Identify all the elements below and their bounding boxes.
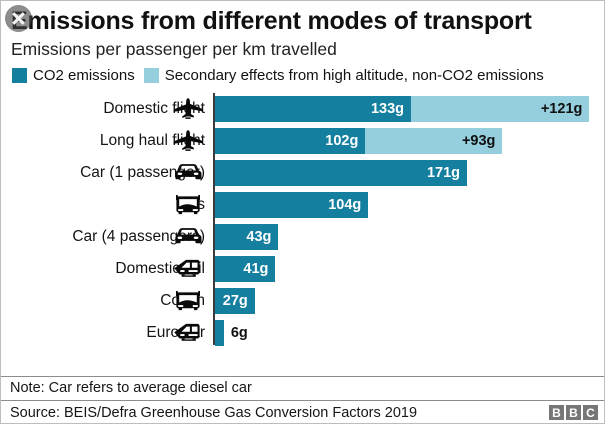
car-icon bbox=[169, 224, 207, 250]
bar-chart-plot: Domestic flight133g+121gLong haul flight… bbox=[1, 91, 604, 353]
bar-value-label: 43g bbox=[246, 230, 278, 245]
note-divider bbox=[1, 376, 604, 377]
bar-segment-co2: 43g bbox=[215, 224, 278, 250]
bar-row: Domestic rail41g bbox=[1, 256, 604, 282]
bar-value-label: 6g bbox=[224, 326, 248, 341]
bar-value-label-secondary: +121g bbox=[541, 102, 590, 117]
source-text: Source: BEIS/Defra Greenhouse Gas Conver… bbox=[10, 405, 417, 421]
bar-value-label-secondary: +93g bbox=[462, 134, 502, 149]
bbc-logo-block: B bbox=[566, 405, 581, 420]
bbc-logo-block: B bbox=[549, 405, 564, 420]
bbc-chart-card: Emissions from different modes of transp… bbox=[0, 0, 605, 424]
bar-value-label: 104g bbox=[328, 198, 368, 213]
bar-row: Domestic flight133g+121g bbox=[1, 96, 604, 122]
bar-row: Bus104g bbox=[1, 192, 604, 218]
bbc-logo-block: C bbox=[583, 405, 598, 420]
bar-row: Car (4 passengers)43g bbox=[1, 224, 604, 250]
bar-group: 171g bbox=[215, 160, 467, 186]
bar-segment-co2: 171g bbox=[215, 160, 467, 186]
bbc-logo: BBC bbox=[549, 405, 598, 420]
bar-segment-co2: 41g bbox=[215, 256, 275, 282]
bus-icon bbox=[169, 192, 207, 218]
bar-segment-secondary: +121g bbox=[411, 96, 589, 122]
chart-subtitle: Emissions per passenger per km travelled bbox=[11, 39, 594, 59]
legend-swatch-secondary bbox=[144, 68, 159, 83]
bar-row: Long haul flight102g+93g bbox=[1, 128, 604, 154]
bar-group: 104g bbox=[215, 192, 368, 218]
bar-segment-co2: 102g bbox=[215, 128, 365, 154]
bar-value-label: 133g bbox=[371, 102, 411, 117]
bar-segment-secondary: +93g bbox=[365, 128, 502, 154]
chart-footer: Source: BEIS/Defra Greenhouse Gas Conver… bbox=[1, 401, 604, 424]
bar-group: 6g bbox=[215, 320, 224, 346]
legend-label-secondary: Secondary effects from high altitude, no… bbox=[165, 68, 544, 83]
plane-icon bbox=[169, 128, 207, 154]
bar-segment-co2: 104g bbox=[215, 192, 368, 218]
page-title: Emissions from different modes of transp… bbox=[11, 8, 594, 35]
bar-segment-co2: 6g bbox=[215, 320, 224, 346]
bar-value-label: 102g bbox=[325, 134, 365, 149]
bar-value-label: 41g bbox=[243, 262, 275, 277]
legend-swatch-co2 bbox=[12, 68, 27, 83]
plane-icon bbox=[169, 96, 207, 122]
legend-item-secondary: Secondary effects from high altitude, no… bbox=[144, 68, 544, 83]
bar-segment-co2: 133g bbox=[215, 96, 411, 122]
y-axis-line bbox=[213, 93, 215, 345]
chart-legend: CO2 emissions Secondary effects from hig… bbox=[11, 68, 594, 83]
bar-value-label: 27g bbox=[223, 294, 255, 309]
legend-item-co2: CO2 emissions bbox=[12, 68, 135, 83]
bus-icon bbox=[169, 288, 207, 314]
bar-group: 43g bbox=[215, 224, 278, 250]
bar-segment-co2: 27g bbox=[215, 288, 255, 314]
close-icon[interactable] bbox=[5, 5, 32, 32]
chart-note: Note: Car refers to average diesel car bbox=[10, 380, 252, 396]
bar-row: Coach27g bbox=[1, 288, 604, 314]
bar-value-label: 171g bbox=[427, 166, 467, 181]
train-icon bbox=[169, 256, 207, 282]
bar-group: 133g+121g bbox=[215, 96, 589, 122]
bar-group: 102g+93g bbox=[215, 128, 502, 154]
car-icon bbox=[169, 160, 207, 186]
chart-header: Emissions from different modes of transp… bbox=[1, 1, 604, 83]
bar-group: 41g bbox=[215, 256, 275, 282]
bar-group: 27g bbox=[215, 288, 255, 314]
bar-row: Eurostar6g bbox=[1, 320, 604, 346]
train-icon bbox=[169, 320, 207, 346]
legend-label-co2: CO2 emissions bbox=[33, 68, 135, 83]
bar-row: Car (1 passenger)171g bbox=[1, 160, 604, 186]
